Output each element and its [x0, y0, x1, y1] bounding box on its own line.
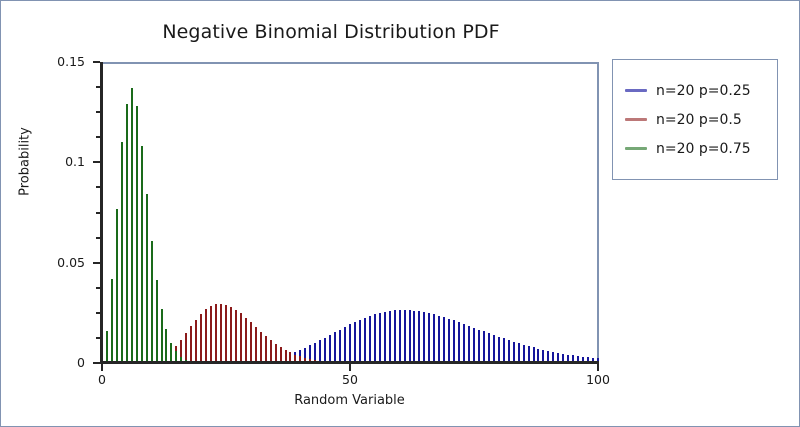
- bar: [200, 314, 202, 363]
- bar: [131, 88, 133, 363]
- x-tick-mark: [101, 364, 103, 371]
- bar: [161, 309, 163, 363]
- bar: [334, 332, 336, 363]
- bar: [483, 331, 485, 363]
- legend-item[interactable]: n=20 p=0.25: [621, 76, 767, 105]
- bar: [185, 333, 187, 363]
- bar: [359, 320, 361, 363]
- bar: [156, 280, 158, 363]
- bar: [151, 241, 153, 363]
- bar: [478, 330, 480, 364]
- bar: [170, 343, 172, 363]
- legend-label: n=20 p=0.75: [656, 141, 751, 157]
- bar: [488, 333, 490, 363]
- bar: [146, 194, 148, 363]
- y-tick-mark: [93, 61, 100, 63]
- x-tick-label: 0: [72, 372, 132, 387]
- bar: [354, 322, 356, 363]
- y-tick-label: 0.15: [39, 54, 85, 69]
- bar: [245, 318, 247, 363]
- bar: [364, 318, 366, 363]
- bar: [260, 332, 262, 364]
- bar-series-container: [100, 62, 599, 363]
- bar: [438, 316, 440, 363]
- x-axis-title: Random Variable: [100, 393, 599, 408]
- bar: [220, 304, 222, 363]
- y-axis-title: Probability: [18, 72, 33, 252]
- bar: [513, 342, 515, 363]
- legend-label: n=20 p=0.5: [656, 112, 742, 128]
- bar: [369, 316, 371, 363]
- bar: [106, 331, 108, 363]
- bar: [339, 330, 341, 364]
- x-tick-label: 100: [568, 372, 628, 387]
- y-axis-spine: [100, 62, 103, 364]
- legend: n=20 p=0.25n=20 p=0.5n=20 p=0.75: [612, 59, 778, 180]
- bar: [379, 313, 381, 363]
- y-tick-label: 0: [39, 355, 85, 370]
- bar: [116, 209, 118, 364]
- bar: [409, 310, 411, 363]
- y-tick-label: 0.05: [39, 255, 85, 270]
- x-axis-spine: [100, 361, 599, 364]
- bar: [384, 312, 386, 363]
- bar: [473, 328, 475, 363]
- bar: [265, 336, 267, 363]
- bar: [399, 310, 401, 363]
- y-tick-mark: [93, 262, 100, 264]
- bar: [344, 327, 346, 363]
- bar: [468, 326, 470, 363]
- y-tick-mark: [93, 362, 100, 364]
- bar: [136, 106, 138, 363]
- bar: [463, 324, 465, 363]
- bar: [215, 304, 217, 363]
- bar: [121, 142, 123, 363]
- bar: [349, 324, 351, 363]
- legend-color-swatch: [625, 147, 647, 150]
- bar: [423, 312, 425, 363]
- bar: [165, 329, 167, 363]
- bar: [404, 310, 406, 363]
- bar: [324, 338, 326, 363]
- bar: [433, 314, 435, 363]
- bar: [493, 335, 495, 363]
- bar: [225, 305, 227, 363]
- y-tick-mark: [93, 161, 100, 163]
- legend-color-swatch: [625, 89, 647, 92]
- bar: [394, 310, 396, 363]
- bar: [443, 317, 445, 363]
- bar: [255, 327, 257, 363]
- bar: [240, 313, 242, 363]
- bar: [374, 314, 376, 363]
- x-tick-mark: [349, 364, 351, 371]
- bar: [498, 337, 500, 363]
- bar: [250, 322, 252, 363]
- page-title: Negative Binomial Distribution PDF: [1, 21, 661, 43]
- bar: [235, 310, 237, 363]
- bar: [453, 320, 455, 363]
- chart-figure: Negative Binomial Distribution PDF 00.05…: [0, 0, 800, 427]
- x-tick-mark: [597, 364, 599, 371]
- bar: [503, 338, 505, 363]
- legend-color-swatch: [625, 118, 647, 121]
- legend-item[interactable]: n=20 p=0.75: [621, 134, 767, 163]
- bar: [329, 335, 331, 363]
- bar: [141, 146, 143, 363]
- legend-label: n=20 p=0.25: [656, 83, 751, 99]
- bar: [418, 311, 420, 363]
- bar: [195, 320, 197, 363]
- bar: [389, 311, 391, 363]
- bar: [126, 104, 128, 363]
- bar: [270, 340, 272, 363]
- x-tick-label: 50: [320, 372, 380, 387]
- bar: [448, 319, 450, 363]
- y-tick-label: 0.1: [39, 154, 85, 169]
- bar: [508, 340, 510, 363]
- bar: [111, 279, 113, 363]
- bar: [458, 322, 460, 363]
- bar: [190, 326, 192, 363]
- bar: [319, 340, 321, 363]
- bar: [210, 306, 212, 363]
- legend-item[interactable]: n=20 p=0.5: [621, 105, 767, 134]
- bar: [205, 309, 207, 363]
- bar: [413, 311, 415, 363]
- bar: [230, 307, 232, 363]
- bar: [428, 313, 430, 363]
